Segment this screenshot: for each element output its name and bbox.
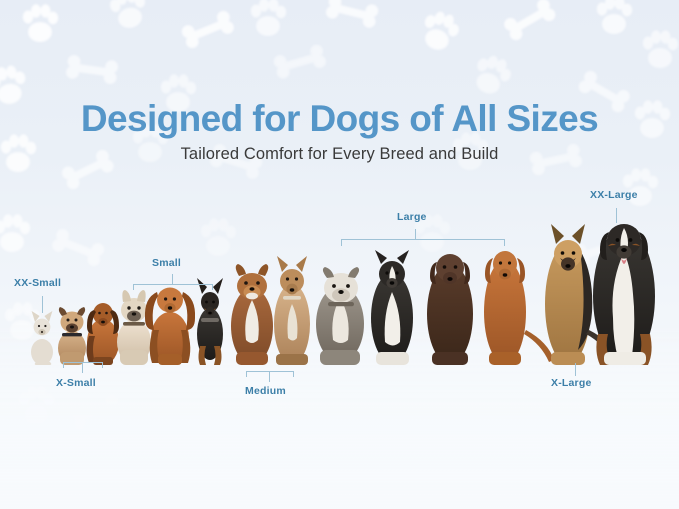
dog-border-collie <box>371 250 413 365</box>
size-label-small: Small <box>152 257 181 269</box>
dog-pug-mix <box>58 307 86 365</box>
bracket-bar-large <box>341 239 505 240</box>
background-paw-bone-pattern <box>0 0 679 509</box>
size-label-x-large: X-Large <box>551 377 592 389</box>
dog-vizsla <box>484 251 554 365</box>
connector-stem-x-small <box>82 362 83 373</box>
bracket-tick-left-large <box>341 239 342 246</box>
dog-chihuahua <box>31 311 53 365</box>
header: Designed for Dogs of All Sizes Tailored … <box>0 100 679 164</box>
connector-stem-xx-large <box>616 208 617 223</box>
size-label-large: Large <box>397 211 427 223</box>
dog-bernese-mountain-dog <box>593 224 655 365</box>
bracket-tick-left-medium <box>246 371 247 377</box>
dog-basenji-mix <box>274 256 310 365</box>
bracket-bar-small <box>133 284 213 285</box>
dog-pit-bull-terrier <box>231 264 273 365</box>
bracket-tick-right-medium <box>293 371 294 377</box>
size-label-xx-large: XX-Large <box>590 189 638 201</box>
dog-lineup <box>0 0 679 509</box>
poster-canvas: Designed for Dogs of All Sizes Tailored … <box>0 0 679 509</box>
page-subtitle: Tailored Comfort for Every Breed and Bui… <box>0 145 679 164</box>
bracket-tick-left-x-small <box>63 362 64 368</box>
size-label-xx-small: XX-Small <box>14 277 61 289</box>
size-label-x-small: X-Small <box>56 377 96 389</box>
dog-long-haired-dachshund <box>87 303 120 365</box>
size-label-medium: Medium <box>245 385 286 397</box>
dog-french-bulldog <box>117 290 151 365</box>
connector-stem-medium <box>269 371 270 382</box>
dog-chocolate-labrador <box>427 254 473 365</box>
connector-stem-xx-small <box>42 296 43 313</box>
bracket-tick-right-large <box>504 239 505 246</box>
bracket-tick-right-small <box>212 284 213 290</box>
dog-german-shepherd <box>545 224 619 365</box>
bracket-tick-left-small <box>133 284 134 290</box>
connector-stem-x-large <box>575 363 576 376</box>
dog-cavalier-spaniel <box>145 288 195 366</box>
bracket-tick-right-x-small <box>102 362 103 368</box>
dog-english-bulldog <box>316 267 364 365</box>
dog-miniature-pinscher <box>197 278 223 365</box>
background-bottom-fade <box>0 319 679 509</box>
page-title: Designed for Dogs of All Sizes <box>0 100 679 139</box>
